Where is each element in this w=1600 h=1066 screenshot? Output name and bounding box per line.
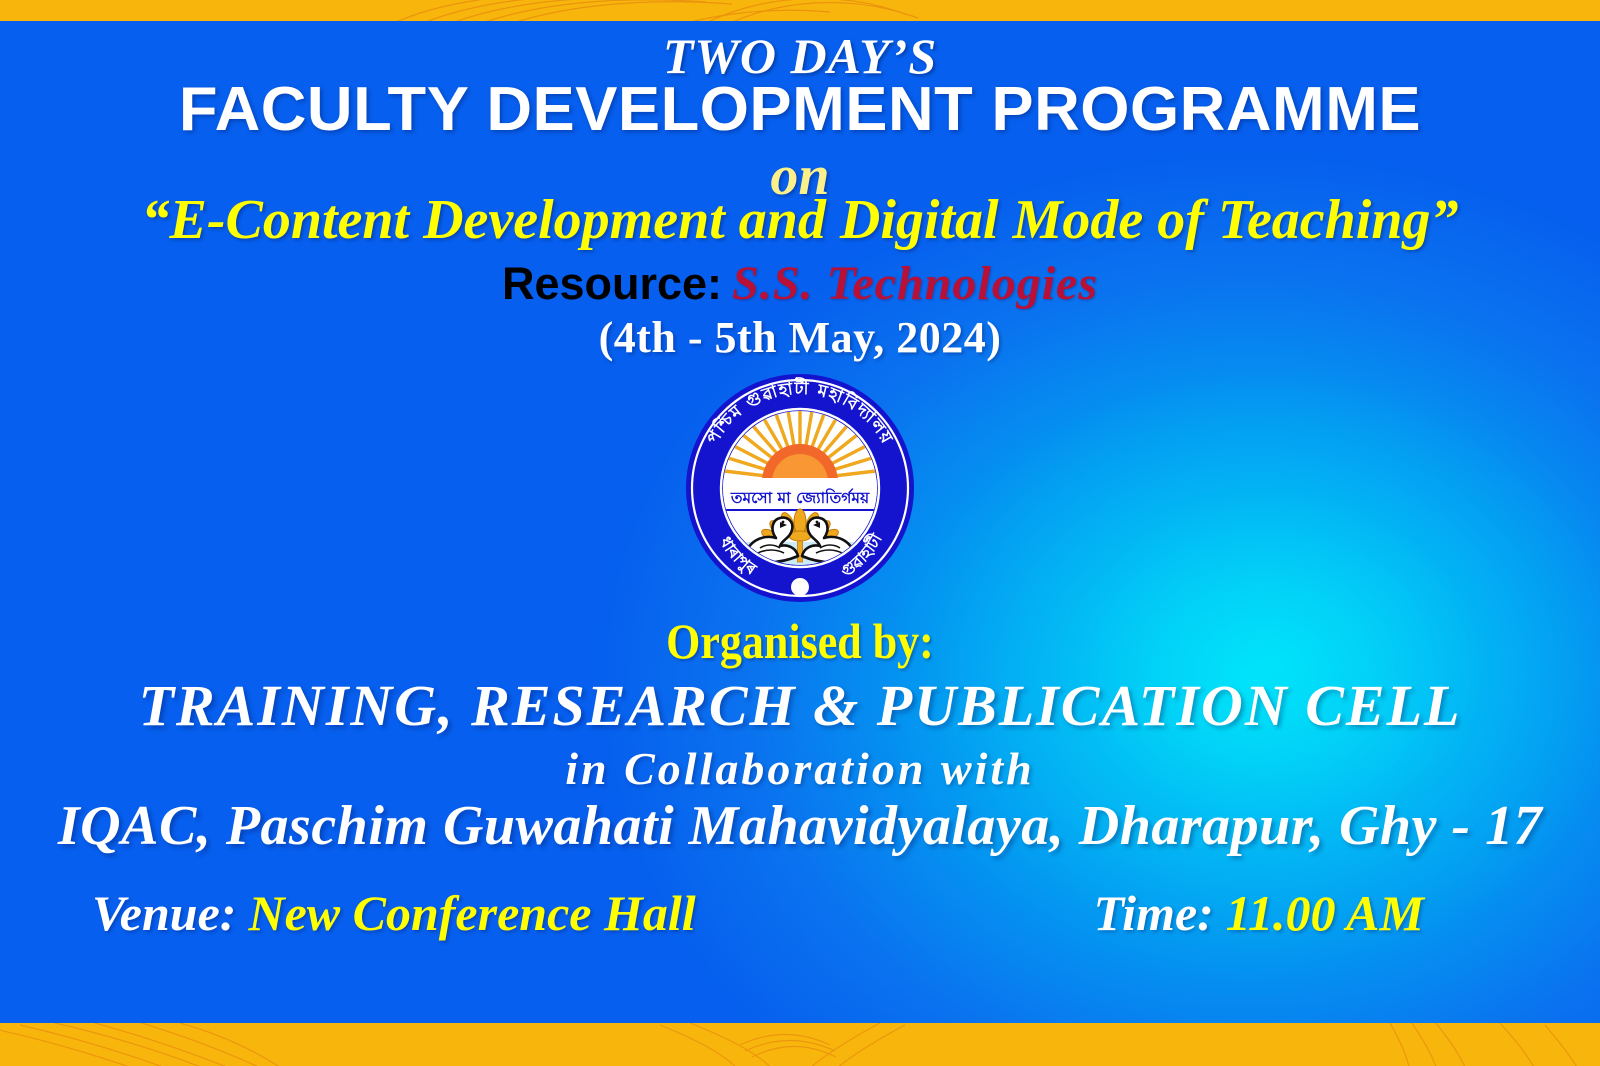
top-band-decoration (0, 0, 1600, 21)
time-label: Time: (1093, 885, 1213, 941)
top-gold-band (0, 0, 1600, 21)
programme-subject: “E-Content Development and Digital Mode … (0, 188, 1600, 252)
resource-value: S.S. Technologies (732, 257, 1098, 310)
event-dates: (4th - 5th May, 2024) (0, 312, 1600, 363)
seal-bottom-dot (791, 578, 809, 596)
organiser-name: TRAINING, RESEARCH & PUBLICATION CELL (0, 672, 1600, 739)
resource-line: Resource:S.S. Technologies (0, 256, 1600, 311)
resource-label: Resource: (502, 258, 722, 309)
college-seal-graphic: পশ্চিম গুৱাহাটী মহাবিদ্যালয় ধাৰাপুৰ গুৱ… (684, 372, 916, 604)
event-poster: TWO DAY’S FACULTY DEVELOPMENT PROGRAMME … (0, 0, 1600, 1066)
bottom-gold-band (0, 1023, 1600, 1066)
time-group: Time:11.00 AM (1093, 884, 1424, 942)
collaboration-label: in Collaboration with (0, 742, 1600, 795)
venue-label: Venue: (92, 885, 236, 941)
page-title: FACULTY DEVELOPMENT PROGRAMME (0, 78, 1600, 141)
organised-by-label: Organised by: (96, 612, 1504, 670)
venue-value: New Conference Hall (248, 885, 695, 941)
time-value: 11.00 AM (1226, 885, 1424, 941)
venue-time-row: Venue:New Conference Hall Time:11.00 AM (0, 884, 1600, 942)
collaborator-name: IQAC, Paschim Guwahati Mahavidyalaya, Dh… (0, 794, 1600, 858)
college-emblem: পশ্চিম গুৱাহাটী মহাবিদ্যালয় ধাৰাপুৰ গুৱ… (684, 372, 916, 604)
venue-group: Venue:New Conference Hall (92, 884, 696, 942)
bottom-band-decoration (0, 1023, 1600, 1066)
seal-motto-text: তমসো মা জ্যোতিৰ্গময় (730, 487, 870, 507)
